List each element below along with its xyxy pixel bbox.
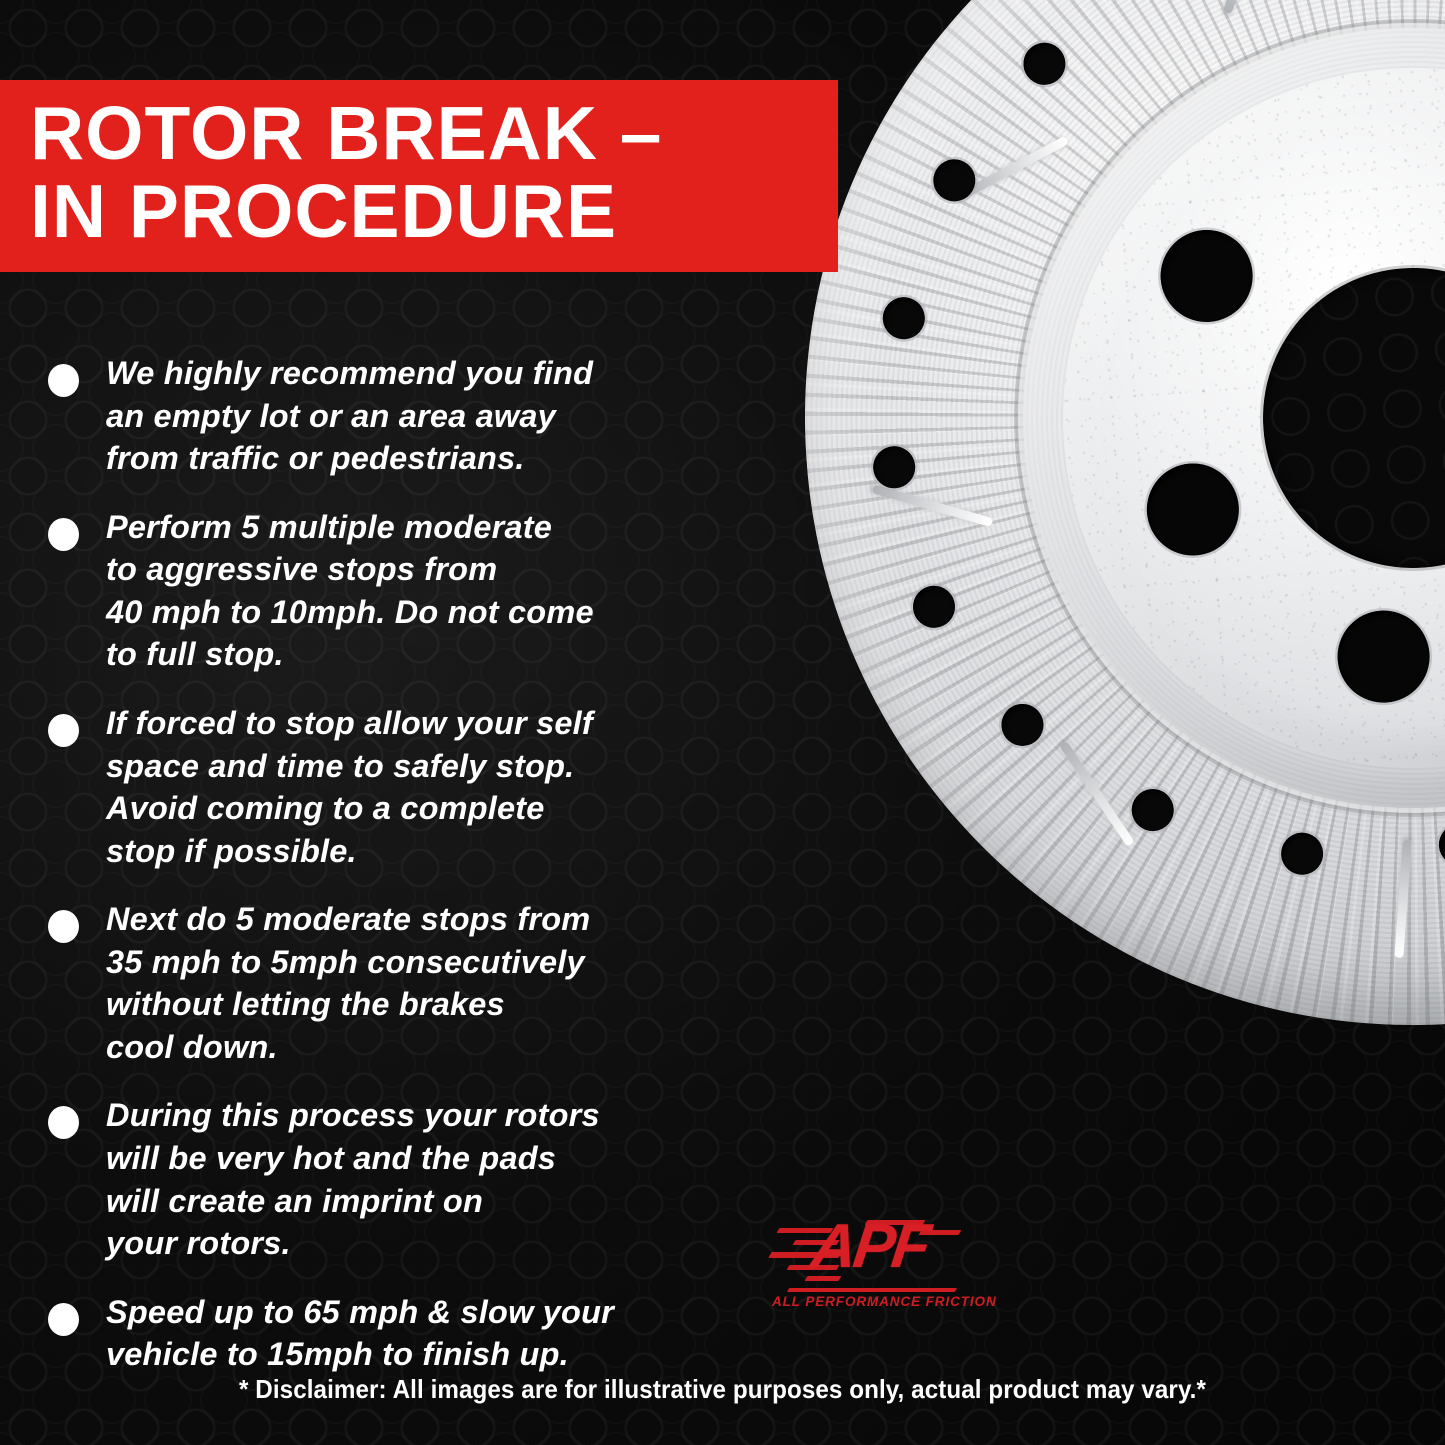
list-item: Perform 5 multiple moderate to aggressiv… [48, 506, 768, 676]
apf-logo-tagline: ALL PERFORMANCE FRICTION [772, 1294, 972, 1309]
page-title-line-2: IN PROCEDURE [30, 172, 812, 250]
apf-logo-text: APF [808, 1216, 931, 1278]
instruction-list: We highly recommend you find an empty lo… [48, 352, 768, 1402]
list-item: We highly recommend you find an empty lo… [48, 352, 768, 480]
logo-speed-streak-icon [787, 1288, 957, 1292]
page-title-line-1: ROTOR BREAK – [30, 94, 812, 172]
apf-logo-mark: APF [770, 1218, 970, 1290]
list-item: During this process your rotors will be … [48, 1094, 768, 1264]
bullet-dot-icon [48, 1106, 79, 1139]
rotor-break-in-infographic: ROTOR BREAK – IN PROCEDURE We highly rec… [0, 0, 1445, 1445]
list-item-text: Next do 5 moderate stops from 35 mph to … [106, 898, 590, 1068]
list-item-text: Perform 5 multiple moderate to aggressiv… [106, 506, 594, 676]
list-item-text: We highly recommend you find an empty lo… [106, 352, 593, 480]
list-item-text: Speed up to 65 mph & slow your vehicle t… [106, 1291, 614, 1376]
title-banner: ROTOR BREAK – IN PROCEDURE [0, 80, 838, 272]
bullet-dot-icon [48, 714, 79, 747]
list-item: Speed up to 65 mph & slow your vehicle t… [48, 1291, 768, 1376]
apf-brand-logo: APF ALL PERFORMANCE FRICTION [770, 1218, 970, 1328]
bullet-dot-icon [48, 364, 79, 397]
bullet-dot-icon [48, 518, 79, 551]
list-item-text: During this process your rotors will be … [106, 1094, 600, 1264]
disclaimer-text: * Disclaimer: All images are for illustr… [51, 1374, 1395, 1405]
bullet-dot-icon [48, 910, 79, 943]
list-item-text: If forced to stop allow your self space … [106, 702, 593, 872]
list-item: If forced to stop allow your self space … [48, 702, 768, 872]
list-item: Next do 5 moderate stops from 35 mph to … [48, 898, 768, 1068]
bullet-dot-icon [48, 1303, 79, 1336]
